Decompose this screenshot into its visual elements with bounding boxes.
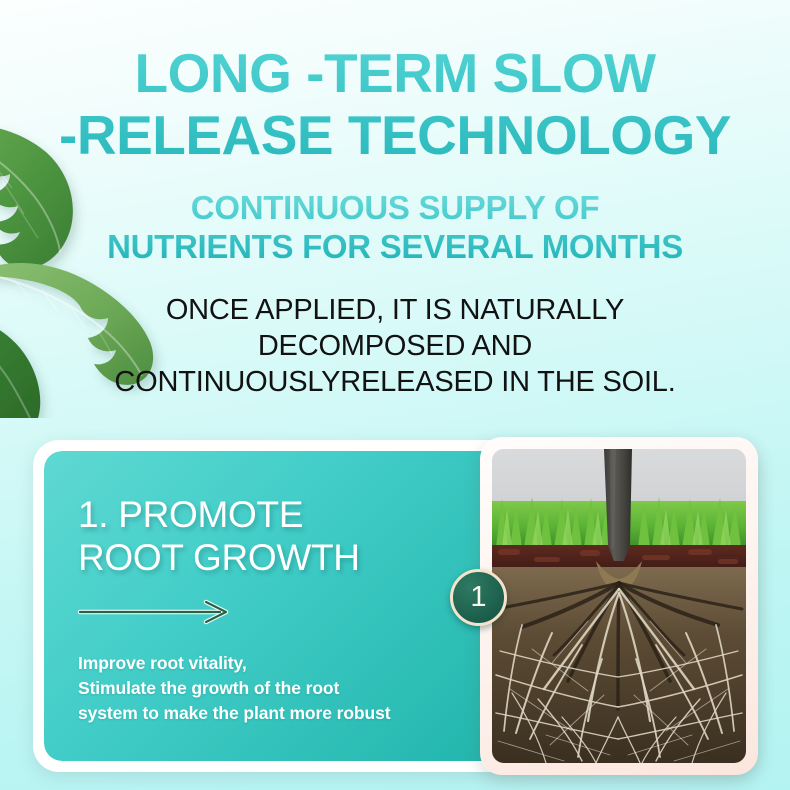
page-subtitle-line2: NUTRIENTS FOR SEVERAL MONTHS xyxy=(0,227,790,266)
feature-card-description-line2: Stimulate the growth of the root xyxy=(78,676,494,701)
feature-card-text-panel: 1. PROMOTE ROOT GROWTH Improve root vita xyxy=(44,451,494,761)
header-block: LONG -TERM SLOW -RELEASE TECHNOLOGY CONT… xyxy=(0,0,790,400)
page-title-line1: LONG -TERM SLOW xyxy=(134,42,655,104)
page-subtitle-line1: CONTINUOUS SUPPLY OF xyxy=(191,189,599,226)
feature-card-heading: 1. PROMOTE ROOT GROWTH xyxy=(78,493,494,579)
feature-card-heading-line1: 1. PROMOTE xyxy=(78,493,494,536)
intro-paragraph: ONCE APPLIED, IT IS NATURALLY DECOMPOSED… xyxy=(0,292,790,400)
page-title: LONG -TERM SLOW -RELEASE TECHNOLOGY xyxy=(0,0,790,166)
intro-paragraph-line3: CONTINUOUSLYRELEASED IN THE SOIL. xyxy=(0,364,790,400)
intro-paragraph-line1: ONCE APPLIED, IT IS NATURALLY xyxy=(0,292,790,328)
root-photo-frame xyxy=(480,437,758,775)
feature-card-description-line3: system to make the plant more robust xyxy=(78,701,494,726)
step-number-badge-label: 1 xyxy=(470,583,486,612)
feature-card-description-line1: Improve root vitality, xyxy=(78,651,494,676)
page-subtitle: CONTINUOUS SUPPLY OF NUTRIENTS FOR SEVER… xyxy=(0,188,790,266)
tree-root-system-cross-section-photo xyxy=(492,449,746,763)
feature-card-description: Improve root vitality, Stimulate the gro… xyxy=(78,651,494,726)
page-title-line2: -RELEASE TECHNOLOGY xyxy=(0,104,790,166)
feature-card-heading-line2: ROOT GROWTH xyxy=(78,536,494,579)
intro-paragraph-line2: DECOMPOSED AND xyxy=(0,328,790,364)
step-number-badge: 1 xyxy=(450,569,507,626)
arrow-right-icon xyxy=(78,599,238,625)
